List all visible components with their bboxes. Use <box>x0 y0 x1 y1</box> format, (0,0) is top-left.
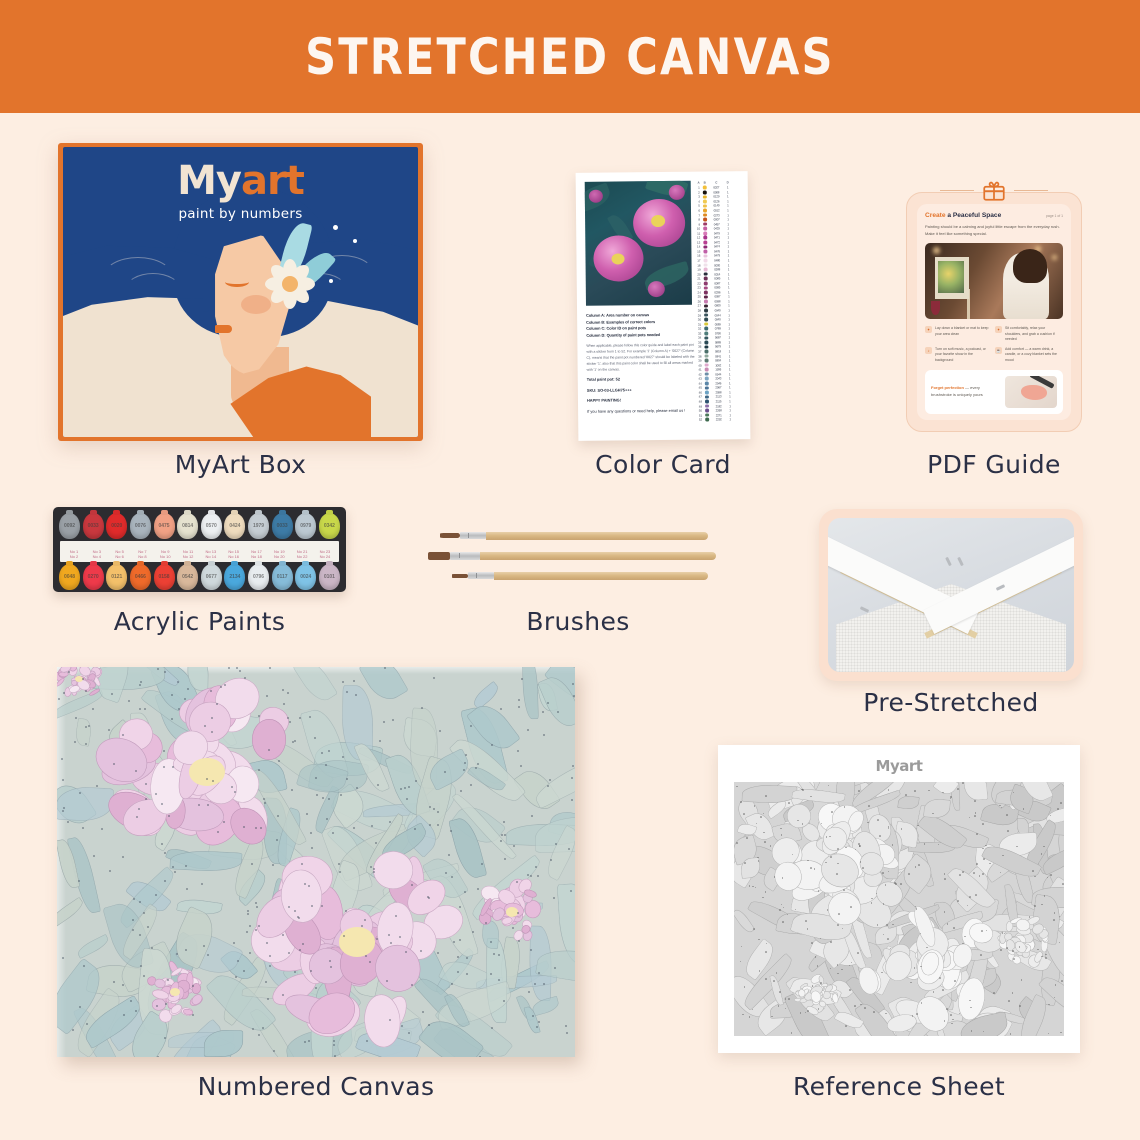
reference-region-number <box>771 1016 773 1018</box>
paint-pot-label: 0121 <box>111 574 122 580</box>
canvas-region-number <box>211 731 213 733</box>
canvas-region-number <box>518 940 520 942</box>
reference-region-number <box>983 858 985 860</box>
reference-region-number <box>844 806 846 808</box>
reference-region-number <box>765 891 767 893</box>
swatch-id: 0790 <box>709 331 726 335</box>
paint-pot-label: 0270 <box>88 574 99 580</box>
paint-pot-label: 0048 <box>64 574 75 580</box>
paint-pot: 0048 <box>59 564 80 590</box>
swatch-number: 28 <box>696 309 703 313</box>
canvas-region-number <box>260 827 262 829</box>
canvas-region-number <box>79 1006 81 1008</box>
reference-region-number <box>740 801 742 803</box>
canvas-region-number <box>101 828 103 830</box>
canvas-region-number <box>453 941 455 943</box>
paint-pot: 0158 <box>154 564 175 590</box>
reference-region-number <box>892 924 894 926</box>
reference-region-number <box>1006 814 1008 816</box>
reference-region-number <box>765 795 767 797</box>
reference-region-number <box>1029 916 1031 918</box>
canvas-region-number <box>289 721 291 723</box>
reference-region-number <box>744 862 746 864</box>
reference-region-number <box>776 972 778 974</box>
reference-sheet-logo: Myart <box>734 757 1064 775</box>
numbered-canvas-image <box>57 667 575 1057</box>
woman-eye <box>225 277 249 287</box>
page-title: STRETCHED CANVAS <box>305 28 835 86</box>
swatch-id: 0600 <box>709 304 726 308</box>
canvas-region-number <box>553 897 555 899</box>
reference-region-number <box>1006 947 1008 949</box>
canvas-region-number <box>255 827 257 829</box>
canvas-region-number <box>177 681 179 683</box>
reference-region-number <box>836 873 838 875</box>
swatch-id: 0008 <box>708 190 725 194</box>
canvas-region-number <box>206 778 208 780</box>
canvas-region-number <box>437 811 439 813</box>
logo-art-text: art <box>241 158 304 204</box>
canvas-petal-region <box>152 998 166 1010</box>
reference-region-number <box>969 1000 971 1002</box>
paint-pot: 0270 <box>83 564 104 590</box>
swatch-qty: 1 <box>725 254 731 258</box>
reference-region-number <box>791 1032 793 1034</box>
swatch-number: 31 <box>696 322 703 326</box>
reference-region-number <box>760 816 762 818</box>
paint-pot: 0424 <box>224 513 245 539</box>
swatch-id: 2113 <box>710 395 727 399</box>
reference-region-number <box>918 864 920 866</box>
reference-region-number <box>879 835 881 837</box>
canvas-region-number <box>231 786 233 788</box>
daisy-flower-icon <box>263 257 317 311</box>
paint-pot-label: 2134 <box>229 574 240 580</box>
canvas-region-number <box>92 708 94 710</box>
canvas-region-number <box>445 872 447 874</box>
swatch-id: 0296 <box>709 290 726 294</box>
canvas-region-number <box>379 740 381 742</box>
reference-region-number <box>783 907 785 909</box>
swatch-number: 42 <box>697 372 704 376</box>
reference-region-number <box>778 1005 780 1007</box>
swatch-number: 12 <box>695 236 702 240</box>
reference-region-number <box>858 843 860 845</box>
swatch-qty: 1 <box>726 345 732 349</box>
swatch-id: 0940 <box>709 317 726 321</box>
reference-region-number <box>1012 992 1014 994</box>
canvas-region-number <box>399 936 401 938</box>
swatch-number: 24 <box>696 290 703 294</box>
reference-region-number <box>801 789 803 791</box>
canvas-region-number <box>565 1025 567 1027</box>
paint-pot: 0796 <box>248 564 269 590</box>
strip-number: No 24 <box>314 554 336 559</box>
paint-pot: 0342 <box>319 513 340 539</box>
reference-region-number <box>736 842 738 844</box>
swatch-number: 30 <box>696 318 703 322</box>
canvas-region-number <box>543 734 545 736</box>
canvas-region-number <box>566 1032 568 1034</box>
canvas-region-number <box>140 681 142 683</box>
swatch-number: 34 <box>696 336 703 340</box>
swatch-number: 36 <box>696 345 703 349</box>
canvas-region-number <box>178 708 180 710</box>
canvas-region-number <box>156 1005 158 1007</box>
canvas-region-number <box>383 721 385 723</box>
strip-number: No 4 <box>86 554 108 559</box>
canvas-leaf-region <box>57 785 114 822</box>
swatch-qty: 1 <box>726 272 732 276</box>
reference-region-number <box>976 863 978 865</box>
paint-pot-label: 0020 <box>111 523 122 529</box>
reference-region-number <box>749 885 751 887</box>
canvas-region-number <box>310 970 312 972</box>
canvas-region-number <box>451 876 453 878</box>
swatch-row: 5222921 <box>697 417 743 422</box>
canvas-region-number <box>171 718 173 720</box>
canvas-region-number <box>334 1055 336 1057</box>
divider-line <box>1014 190 1048 191</box>
reference-region-number <box>773 980 775 982</box>
canvas-region-number <box>192 985 194 987</box>
canvas-region-number <box>306 813 308 815</box>
swatch-id: 2268 <box>710 408 727 412</box>
canvas-region-number <box>203 945 205 947</box>
swatch-number: 40 <box>697 363 704 367</box>
pdf-photo-wine-glass <box>931 301 940 315</box>
reference-region-number <box>908 873 910 875</box>
reference-sheet-diagram <box>734 782 1064 1036</box>
reference-region-number <box>1013 958 1015 960</box>
reference-region-number <box>887 938 889 940</box>
reference-region-number <box>954 980 956 982</box>
canvas-region-number <box>255 929 257 931</box>
paint-pot: 0979 <box>295 513 316 539</box>
strip-numbers-bottom: No 2No 4No 6No 8No 10No 12No 14No 16No 1… <box>63 554 336 559</box>
paint-pot: 2134 <box>224 564 245 590</box>
canvas-region-number <box>186 888 188 890</box>
canvas-region-number <box>263 798 265 800</box>
canvas-region-number <box>287 692 289 694</box>
caption-acrylic-paints: Acrylic Paints <box>53 607 346 636</box>
swatch-qty: 1 <box>727 404 733 408</box>
strip-number: No 12 <box>177 554 199 559</box>
swatch-number: 52 <box>697 418 704 422</box>
swatch-qty: 1 <box>725 208 731 212</box>
canvas-region-number <box>258 769 260 771</box>
paint-pot-label: 0979 <box>300 523 311 529</box>
pre-stretched-image <box>819 509 1083 681</box>
canvas-region-number <box>287 717 289 719</box>
swatch-id: 1906 <box>710 367 727 371</box>
reference-leaf-region <box>768 975 783 1007</box>
canvas-region-number <box>557 711 559 713</box>
swatch-qty: 1 <box>727 381 733 385</box>
canvas-region-number <box>491 1027 493 1029</box>
canvas-region-number <box>406 798 408 800</box>
canvas-region-number <box>513 845 515 847</box>
reference-region-number <box>788 998 790 1000</box>
canvas-region-number <box>79 792 81 794</box>
swatch-number: 18 <box>696 263 703 267</box>
acrylic-paints-image: 0092003300200076047508140570042419790033… <box>53 507 346 592</box>
canvas-region-number <box>316 794 318 796</box>
canvas-region-number <box>132 919 134 921</box>
caption-pre-stretched: Pre-Stretched <box>819 688 1083 717</box>
reference-region-number <box>928 790 930 792</box>
canvas-region-number <box>88 725 90 727</box>
swatch-id: 1062 <box>710 363 727 367</box>
swatch-id: 0479 <box>708 254 725 258</box>
swatch-number: 13 <box>695 240 702 244</box>
swatch-qty: 1 <box>726 349 732 353</box>
swatch-id: 0429 <box>708 227 725 231</box>
reference-region-number <box>830 856 832 858</box>
reference-region-number <box>1000 949 1002 951</box>
reference-region-number <box>831 811 833 813</box>
reference-region-number <box>962 782 964 784</box>
reference-region-number <box>736 786 738 788</box>
swatch-qty: 1 <box>725 204 731 208</box>
paint-pot-label: 0677 <box>206 574 217 580</box>
reference-region-number <box>800 1012 802 1014</box>
canvas-region-number <box>294 740 296 742</box>
canvas-region-number <box>249 925 251 927</box>
canvas-region-number <box>333 1040 335 1042</box>
paint-pot-label: 0814 <box>182 523 193 529</box>
canvas-region-number <box>228 667 230 669</box>
reference-region-number <box>1050 874 1052 876</box>
paint-pot-label: 0076 <box>135 523 146 529</box>
canvas-region-number <box>353 827 355 829</box>
canvas-region-number <box>547 785 549 787</box>
canvas-region-number <box>63 807 65 809</box>
swatch-number: 16 <box>695 254 702 258</box>
canvas-region-number <box>472 931 474 933</box>
canvas-region-number <box>291 789 293 791</box>
reference-region-number <box>781 904 783 906</box>
canvas-region-number <box>294 910 296 912</box>
myart-logo: Myart paint by numbers <box>63 161 418 222</box>
reference-region-number <box>749 1016 751 1018</box>
canvas-region-number <box>122 984 124 986</box>
reference-region-number <box>764 841 766 843</box>
woman-lips <box>215 325 232 333</box>
reference-region-number <box>770 845 772 847</box>
canvas-region-number <box>338 863 340 865</box>
reference-region-number <box>950 796 952 798</box>
paint-pot-label: 0033 <box>88 523 99 529</box>
paint-pot: 1979 <box>248 513 269 539</box>
swatch-qty: 1 <box>726 304 732 308</box>
reference-region-number <box>805 920 807 922</box>
reference-region-number <box>905 794 907 796</box>
reference-region-number <box>740 961 742 963</box>
swatch-id: 0474 <box>708 245 725 249</box>
canvas-region-number <box>311 847 313 849</box>
reference-region-number <box>758 939 760 941</box>
canvas-region-number <box>144 708 146 710</box>
canvas-region-number <box>256 906 258 908</box>
swatch-number: 15 <box>695 250 702 254</box>
reference-region-number <box>970 1007 972 1009</box>
reference-region-number <box>845 1025 847 1027</box>
canvas-region-number <box>470 784 472 786</box>
strip-number: No 18 <box>246 554 268 559</box>
pdf-note-card: Forget perfection — every brushstroke is… <box>925 370 1063 414</box>
reference-region-number <box>1032 870 1034 872</box>
canvas-region-number <box>342 681 344 683</box>
canvas-region-number <box>167 979 169 981</box>
reference-region-number <box>957 900 959 902</box>
canvas-region-number <box>537 875 539 877</box>
reference-region-number <box>837 848 839 850</box>
paint-pots-row-top: 0092003300200076047508140570042419790033… <box>59 513 340 539</box>
canvas-region-number <box>527 729 529 731</box>
staple-icon <box>860 606 869 613</box>
swatch-number: 47 <box>697 395 704 399</box>
paint-pot: 0466 <box>130 564 151 590</box>
canvas-region-number <box>314 737 316 739</box>
canvas-region-number <box>538 1021 540 1023</box>
star-dot <box>333 225 338 230</box>
swatch-qty: 1 <box>726 326 732 330</box>
reference-region-number <box>939 977 941 979</box>
swatch-qty: 1 <box>725 245 731 249</box>
color-card-text: Column A: Area number on canvas Column B… <box>586 312 695 416</box>
swatch-id: 2046 <box>710 381 727 385</box>
staple-icon <box>957 557 964 566</box>
caption-myart-box: MyArt Box <box>58 450 423 479</box>
swatch-id: 0789 <box>709 327 726 331</box>
canvas-region-number <box>516 881 518 883</box>
swatch-number: 50 <box>697 409 704 413</box>
canvas-region-number <box>549 779 551 781</box>
tip-item: ☕ Add comfort — a warm drink, a candle, … <box>995 347 1060 364</box>
total-paint-pot: Total paint pot: 52 <box>587 376 695 384</box>
canvas-region-number <box>534 983 536 985</box>
swatch-number: 11 <box>695 231 702 235</box>
swatch-number: 1 <box>695 186 702 190</box>
canvas-region-number <box>500 708 502 710</box>
canvas-region-number <box>216 703 218 705</box>
canvas-region-number <box>310 832 312 834</box>
canvas-region-number <box>512 927 514 929</box>
swatch-number: 39 <box>697 359 704 363</box>
canvas-region-number <box>299 717 301 719</box>
swatch-qty: 1 <box>725 195 731 199</box>
canvas-region-number <box>247 910 249 912</box>
swatch-number: 22 <box>696 281 703 285</box>
canvas-region-number <box>428 897 430 899</box>
brush-flat <box>428 551 716 560</box>
swatch-id: 0273 <box>708 213 725 217</box>
swatch-qty: 1 <box>727 408 733 412</box>
tip-item: ✦ Lay down a blanket or mat to keep your… <box>925 326 990 343</box>
swatch-id: 0472 <box>708 240 725 244</box>
swatch-number: 21 <box>696 277 703 281</box>
swatch-id: 0089 <box>709 322 726 326</box>
color-card-photo <box>585 181 692 306</box>
reference-region-number <box>921 1002 923 1004</box>
reference-region-number <box>953 927 955 929</box>
canvas-region-number <box>157 1056 159 1057</box>
canvas-region-number <box>568 848 570 850</box>
swatch-number: 44 <box>697 381 704 385</box>
paint-pot-label: 0117 <box>277 574 288 580</box>
canvas-region-number <box>132 929 134 931</box>
canvas-region-number <box>139 708 141 710</box>
canvas-region-number <box>572 765 574 767</box>
reference-region-number <box>942 989 944 991</box>
note-accent: Forget perfection <box>931 385 964 390</box>
swatch-id: 0388 <box>709 267 726 271</box>
caption-brushes: Brushes <box>428 607 728 636</box>
reference-region-number <box>857 952 859 954</box>
canvas-region-number <box>109 870 111 872</box>
canvas-region-number <box>437 952 439 954</box>
reference-region-number <box>752 886 754 888</box>
canvas-region-number <box>235 976 237 978</box>
canvas-region-number <box>68 671 70 673</box>
contact-text: If you have any questions or need help, … <box>587 408 695 416</box>
paint-pot-label: 0342 <box>324 523 335 529</box>
canvas-region-number <box>518 706 520 708</box>
strip-number: No 20 <box>268 554 290 559</box>
swatch-id: 0000 <box>709 263 726 267</box>
swatch-id: 2115 <box>710 399 727 403</box>
strip-number: No 10 <box>154 554 176 559</box>
swatch-qty: 1 <box>727 386 733 390</box>
swatch-id: 2067 <box>710 386 727 390</box>
swatch-qty: 1 <box>725 231 731 235</box>
reference-region-number <box>1061 980 1063 982</box>
canvas-region-number <box>143 912 145 914</box>
paint-pot: 0814 <box>177 513 198 539</box>
page-header: STRETCHED CANVAS <box>0 0 1140 113</box>
caption-numbered-canvas: Numbered Canvas <box>57 1072 575 1101</box>
canvas-leaf-region <box>170 849 243 872</box>
swatch-qty: 1 <box>727 377 733 381</box>
swatch-qty: 1 <box>727 358 733 362</box>
reference-region-number <box>915 866 917 868</box>
reference-region-number <box>982 873 984 875</box>
swatch-qty: 1 <box>725 199 731 203</box>
canvas-region-number <box>531 815 533 817</box>
canvas-region-number <box>570 890 572 892</box>
canvas-region-number <box>265 981 267 983</box>
reference-region-number <box>746 837 748 839</box>
canvas-region-number <box>62 957 64 959</box>
reference-region-number <box>743 813 745 815</box>
canvas-region-number <box>371 825 373 827</box>
canvas-region-number <box>255 902 257 904</box>
paint-pot: 0033 <box>272 513 293 539</box>
canvas-region-number <box>321 752 323 754</box>
swatch-qty: 1 <box>726 286 732 290</box>
pdf-guide-page: Create a Peaceful Space page 1 of 1 Pain… <box>917 204 1071 420</box>
strip-number: No 22 <box>291 554 313 559</box>
reference-region-number <box>843 889 845 891</box>
swatch-number: 37 <box>696 350 703 354</box>
swatch-id: 0471 <box>708 236 725 240</box>
swatch-number: 6 <box>695 209 702 213</box>
star-dot <box>353 239 357 243</box>
paint-pot-label: 0796 <box>253 574 264 580</box>
pdf-page-label: page 1 of 1 <box>1046 214 1063 218</box>
reference-region-number <box>888 789 890 791</box>
